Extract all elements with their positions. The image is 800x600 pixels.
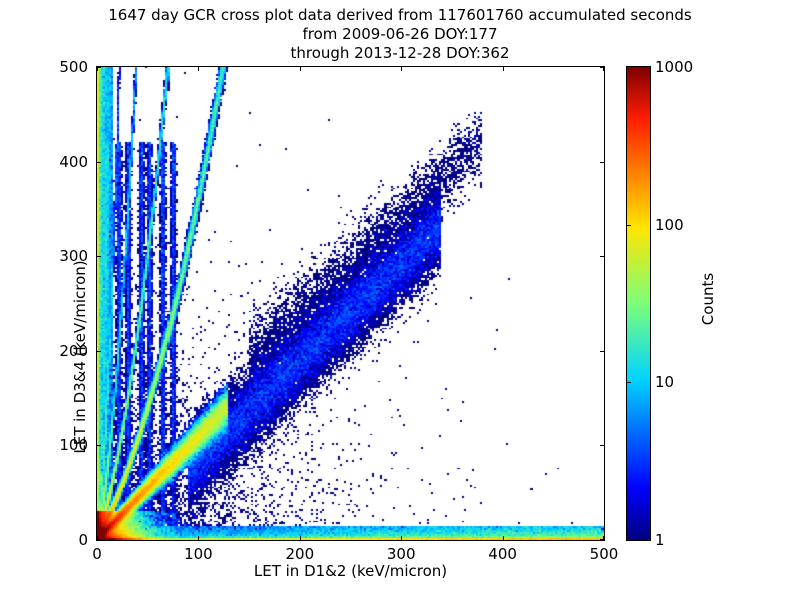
x-axis-tick-label: 500 bbox=[590, 545, 619, 563]
y-axis-label: LET in D3&4 (keV/micron) bbox=[71, 187, 89, 527]
y-axis-tick bbox=[600, 67, 604, 68]
colorbar bbox=[626, 66, 651, 541]
y-axis-label-wrapper: LET in D3&4 (keV/micron) bbox=[30, 134, 50, 474]
x-axis-label: LET in D1&2 (keV/micron) bbox=[96, 562, 605, 580]
y-axis-tick bbox=[600, 256, 604, 257]
x-axis-tick bbox=[198, 67, 199, 71]
colorbar-label: Counts bbox=[699, 229, 717, 369]
y-axis-tick bbox=[600, 445, 604, 446]
y-axis-tick bbox=[600, 539, 604, 540]
figure-title: 1647 day GCR cross plot data derived fro… bbox=[0, 6, 800, 63]
x-axis-tick bbox=[300, 67, 301, 71]
y-axis-tick bbox=[97, 351, 101, 352]
y-axis-tick-label: 400 bbox=[46, 153, 88, 171]
title-line-1: 1647 day GCR cross plot data derived fro… bbox=[0, 6, 800, 25]
colorbar-tick-label: 1 bbox=[655, 531, 665, 549]
histogram-canvas bbox=[97, 67, 604, 540]
y-axis-tick bbox=[600, 162, 604, 163]
x-axis-tick bbox=[503, 536, 504, 540]
y-axis-tick bbox=[97, 67, 101, 68]
colorbar-gradient bbox=[627, 67, 650, 540]
colorbar-tick bbox=[626, 382, 631, 383]
y-axis-tick bbox=[97, 256, 101, 257]
x-axis-tick-label: 400 bbox=[488, 545, 517, 563]
colorbar-tick bbox=[626, 225, 631, 226]
y-axis-tick-label: 500 bbox=[46, 58, 88, 76]
title-line-2: from 2009-06-26 DOY:177 bbox=[0, 25, 800, 44]
y-axis-tick bbox=[97, 539, 101, 540]
colorbar-tick-label: 10 bbox=[655, 373, 674, 391]
x-axis-tick-label: 100 bbox=[184, 545, 213, 563]
y-axis-tick bbox=[97, 445, 101, 446]
scatter-plot-area bbox=[96, 66, 605, 541]
x-axis-tick bbox=[401, 67, 402, 71]
colorbar-tick-label: 100 bbox=[655, 216, 684, 234]
figure-canvas: 1647 day GCR cross plot data derived fro… bbox=[0, 0, 800, 600]
x-axis-tick-label: 300 bbox=[387, 545, 416, 563]
x-axis-tick-label: 200 bbox=[285, 545, 314, 563]
colorbar-title-wrapper: Counts bbox=[698, 230, 718, 370]
x-axis-tick bbox=[401, 536, 402, 540]
colorbar-tick-label: 1000 bbox=[655, 58, 693, 76]
x-axis-tick bbox=[503, 67, 504, 71]
y-axis-tick bbox=[97, 162, 101, 163]
x-axis-tick bbox=[300, 536, 301, 540]
y-axis-tick bbox=[600, 351, 604, 352]
y-axis-tick-label: 0 bbox=[46, 531, 88, 549]
x-axis-tick bbox=[198, 536, 199, 540]
x-axis-tick-label: 0 bbox=[92, 545, 102, 563]
